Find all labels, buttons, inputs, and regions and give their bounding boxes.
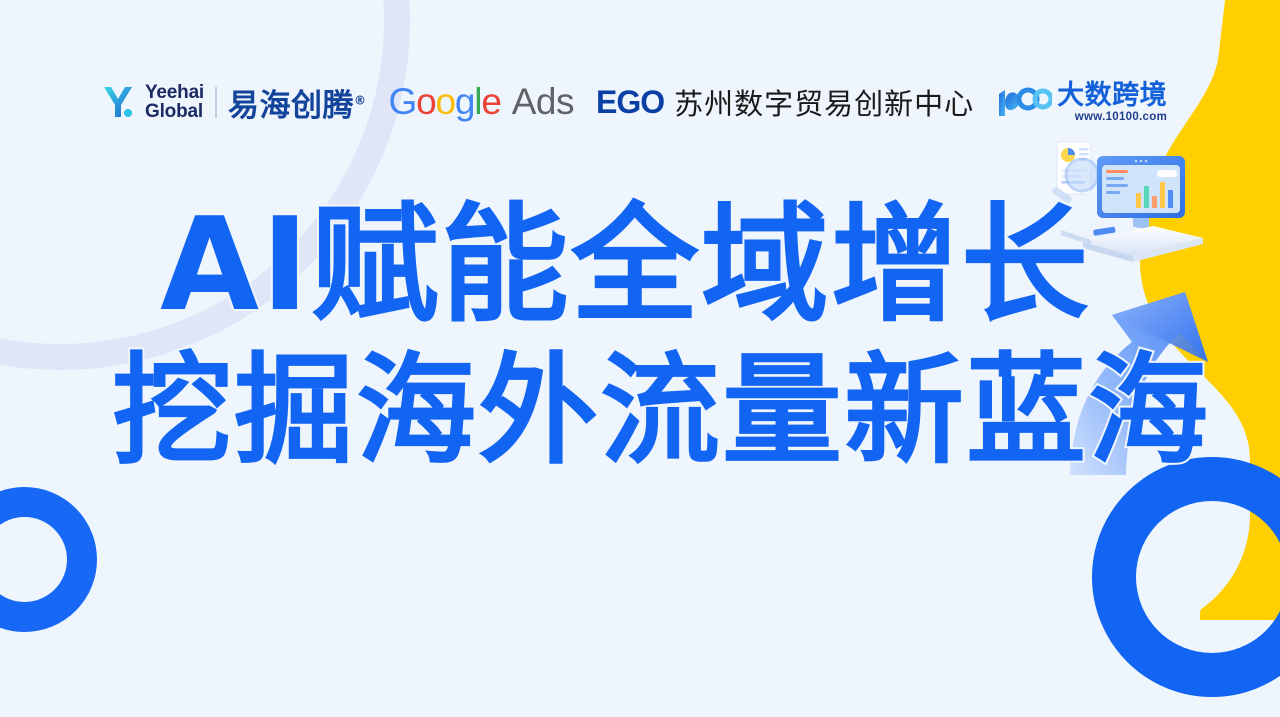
ego-chinese-name: 苏州数字贸易创新中心	[674, 81, 974, 123]
headline-block: AI赋能全域增长 挖掘海外流量新蓝海	[0, 196, 1160, 478]
yeehai-chinese-name: 易海创腾®	[228, 80, 367, 125]
ring-bottomright-decoration	[1092, 457, 1280, 697]
headline-line-1: AI赋能全域增长	[0, 196, 1160, 336]
10100-icon	[996, 85, 1052, 119]
yeehai-y-icon	[98, 82, 138, 122]
google-letter-o1: o	[416, 81, 435, 123]
headline-line-2: 挖掘海外流量新蓝海	[0, 346, 1160, 478]
yeehai-line1: Yeehai	[145, 83, 204, 102]
logo-google-ads[interactable]: G o o g l e Ads	[389, 81, 574, 123]
yeehai-wordmark: Yeehai Global	[145, 83, 204, 121]
partner-logo-bar: Yeehai Global 易海创腾® G o o g l e Ads EGO …	[98, 76, 1167, 128]
google-letter-o2: o	[436, 81, 455, 123]
google-letter-g1: G	[389, 81, 417, 123]
google-letter-e: e	[481, 81, 500, 123]
google-letter-g2: g	[455, 81, 474, 123]
logo-ego-suzhou[interactable]: EGO 苏州数字贸易创新中心	[596, 81, 974, 123]
dashu-chinese-name: 大数跨境	[1057, 82, 1167, 109]
banner-canvas: Yeehai Global 易海创腾® G o o g l e Ads EGO …	[0, 0, 1280, 717]
yeehai-line2: Global	[145, 102, 204, 121]
logo-divider	[215, 87, 217, 118]
trademark-symbol: ®	[354, 93, 367, 107]
google-ads-product: Ads	[512, 81, 574, 123]
google-letter-l: l	[474, 81, 481, 123]
ego-wordmark: EGO	[596, 84, 664, 121]
dashu-url: www.10100.com	[1057, 111, 1167, 123]
ring-bottomleft-decoration	[0, 487, 97, 632]
logo-yeehai-global[interactable]: Yeehai Global 易海创腾®	[98, 80, 367, 125]
logo-dashu-kuajing[interactable]: 大数跨境 www.10100.com	[996, 82, 1167, 123]
